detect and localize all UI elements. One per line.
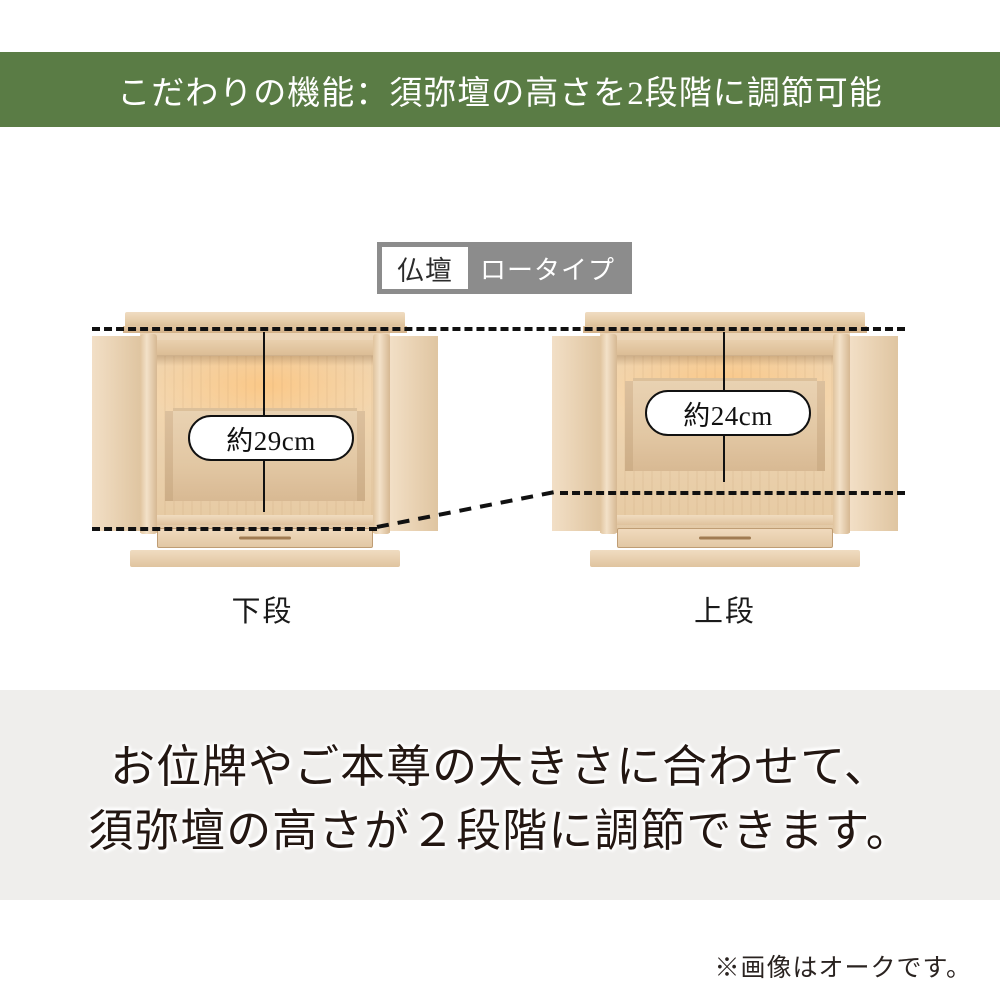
header-banner-title: こだわりの機能：須弥壇の高さを2段階に調節可能 (117, 66, 883, 114)
cabinet-hinge-right (833, 334, 850, 534)
badge-low-type: ロータイプ (468, 247, 627, 289)
cabinet-bottom-shelf (613, 515, 837, 525)
cabinet-lintel (615, 340, 835, 356)
cabinet-base-plinth (130, 550, 400, 567)
cabinet-lintel-shadow (615, 356, 835, 366)
cabinet-door-left (92, 336, 140, 531)
badge-butsudan: 仏壇 (382, 247, 468, 289)
reference-line-bottom-lower (92, 527, 377, 531)
altar-comparison-diagram (0, 300, 1000, 630)
drawer-pull-handle (699, 537, 751, 540)
cabinet-lintel (155, 340, 375, 356)
product-type-badge-group: 仏壇 ロータイプ (377, 242, 632, 294)
cabinet-lintel-shadow (155, 356, 375, 366)
cabinet-door-right (390, 336, 438, 531)
cabinet-door-right (850, 336, 898, 531)
cabinet-under-recess (157, 501, 373, 515)
drawer-pull-handle (239, 537, 291, 540)
cabinet-hinge-left (140, 334, 157, 534)
tier-caption-upper: 上段 (475, 588, 975, 630)
cabinet-base-plinth (590, 550, 860, 567)
cabinet-door-left (552, 336, 600, 531)
image-disclaimer-note: ※画像はオークです。 (714, 948, 972, 984)
cabinet-drawer (617, 528, 833, 548)
cabinet-bottom-shelf (153, 515, 377, 525)
cabinet-drawer (157, 528, 373, 548)
cabinet-hinge-right (373, 334, 390, 534)
reference-line-bottom-upper (560, 491, 905, 495)
tier-caption-lower: 下段 (0, 588, 525, 630)
headline-line-2: 須弥壇の高さが２段階に調節できます。 (0, 799, 1000, 863)
header-banner: こだわりの機能：須弥壇の高さを2段階に調節可能 (0, 52, 1000, 127)
reference-line-top (92, 327, 905, 331)
measurement-label-upper: 約24cm (645, 390, 811, 436)
cabinet-hinge-left (600, 334, 617, 534)
headline-line-1: お位牌やご本尊の大きさに合わせて、 (0, 735, 1000, 799)
measurement-label-lower: 約29cm (188, 415, 354, 461)
